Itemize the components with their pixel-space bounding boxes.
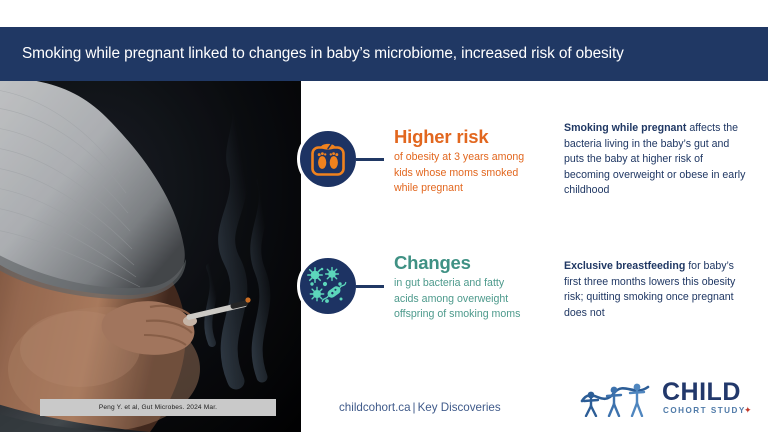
hero-photo <box>0 81 301 432</box>
title-bar: Smoking while pregnant linked to changes… <box>0 27 768 81</box>
citation-banner: Peng Y. et al, Gut Microbes. 2024 Mar. <box>40 399 276 416</box>
right-paragraph-smoking-lead: Smoking while pregnant <box>564 122 686 134</box>
logo-subtitle: COHORT STUDY <box>663 406 746 415</box>
connector-line-higher-risk <box>356 158 384 161</box>
logo-wordmark: CHILD <box>662 379 741 405</box>
bullet-heading-changes: Changes <box>394 252 471 274</box>
maple-leaf-icon: ✦ <box>744 405 752 416</box>
bacteria-glyph <box>307 265 349 307</box>
bullet-body-higher-risk: of obesity at 3 years among kids whose m… <box>394 150 526 197</box>
footer-site[interactable]: childcohort.ca <box>339 401 411 414</box>
connector-line-changes <box>356 285 384 288</box>
footer-link[interactable]: childcohort.ca|Key Discoveries <box>339 401 501 414</box>
right-paragraph-breastfeeding-lead: Exclusive breastfeeding <box>564 260 685 272</box>
child-cohort-study-logo: CHILD COHORT STUDY ✦ <box>578 379 760 421</box>
footer-divider: | <box>411 401 418 414</box>
bacteria-icon <box>297 255 359 317</box>
right-paragraph-breastfeeding: Exclusive breastfeeding for baby’s first… <box>564 259 750 321</box>
page-title: Smoking while pregnant linked to changes… <box>0 45 624 63</box>
citation-text: Peng Y. et al, Gut Microbes. 2024 Mar. <box>99 404 217 411</box>
weight-scale-glyph <box>308 139 348 179</box>
three-figures-icon <box>578 379 658 417</box>
right-paragraph-smoking: Smoking while pregnant affects the bacte… <box>564 121 750 199</box>
footer-section[interactable]: Key Discoveries <box>418 401 501 414</box>
pregnant-smoker-photo-illustration <box>0 81 301 432</box>
slide-canvas: Smoking while pregnant linked to changes… <box>0 0 768 432</box>
bullet-body-changes: in gut bacteria and fatty acids among ov… <box>394 276 526 323</box>
weight-scale-icon <box>297 128 359 190</box>
bullet-heading-higher-risk: Higher risk <box>394 126 488 148</box>
